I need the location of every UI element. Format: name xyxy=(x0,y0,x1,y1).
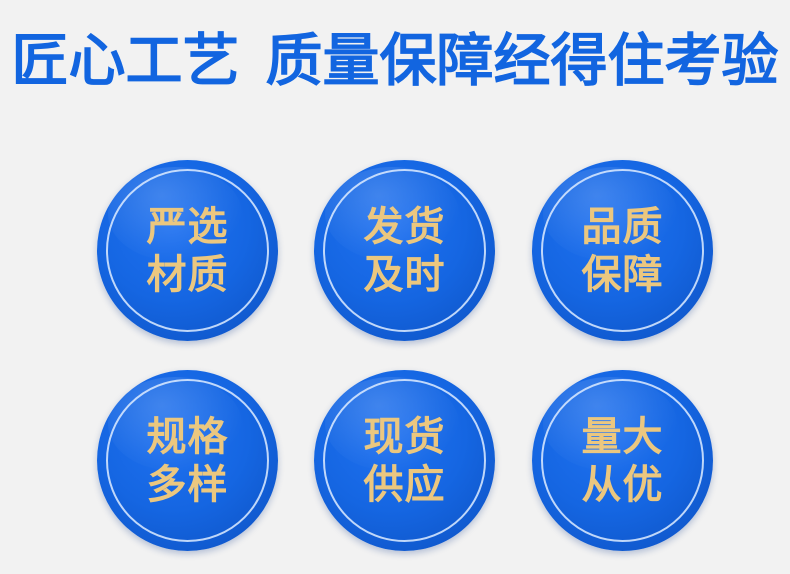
promo-banner: 匠心工艺质量保障经得住考验 严选 材质 发货 及时 品质 保障 xyxy=(0,0,790,574)
badge-label-line-2: 及时 xyxy=(364,251,446,299)
badge-label: 现货 供应 xyxy=(314,370,495,551)
feature-badge-xianhuo-gongying[interactable]: 现货 供应 xyxy=(314,370,495,551)
badge-label: 量大 从优 xyxy=(532,370,713,551)
feature-badge-guige-duoyang[interactable]: 规格 多样 xyxy=(97,370,278,551)
badge-label: 严选 材质 xyxy=(97,160,278,341)
feature-badge-yanxuan-caizhi[interactable]: 严选 材质 xyxy=(97,160,278,341)
badge-label-line-1: 量大 xyxy=(582,413,664,461)
badge-label-line-2: 供应 xyxy=(364,461,446,509)
badge-label-line-1: 严选 xyxy=(147,203,229,251)
badge-label-line-1: 规格 xyxy=(147,413,229,461)
badge-label-line-2: 材质 xyxy=(147,251,229,299)
feature-badge-pinzhi-baozhang[interactable]: 品质 保障 xyxy=(532,160,713,341)
badge-label: 发货 及时 xyxy=(314,160,495,341)
badge-label: 品质 保障 xyxy=(532,160,713,341)
headline-part-1: 匠心工艺 xyxy=(12,29,240,93)
badge-label-line-2: 多样 xyxy=(147,461,229,509)
feature-badge-liangda-congyou[interactable]: 量大 从优 xyxy=(532,370,713,551)
badge-label-line-1: 品质 xyxy=(582,203,664,251)
badge-label-line-2: 保障 xyxy=(582,251,664,299)
feature-badge-grid: 严选 材质 发货 及时 品质 保障 规格 多样 xyxy=(97,160,713,550)
feature-badge-fahuo-jishi[interactable]: 发货 及时 xyxy=(314,160,495,341)
headline-part-2: 质量保障经得住考验 xyxy=(266,29,779,93)
badge-label-line-1: 发货 xyxy=(364,203,446,251)
badge-label-line-2: 从优 xyxy=(582,461,664,509)
page-title: 匠心工艺质量保障经得住考验 xyxy=(0,26,790,96)
badge-label: 规格 多样 xyxy=(97,370,278,551)
badge-label-line-1: 现货 xyxy=(364,413,446,461)
